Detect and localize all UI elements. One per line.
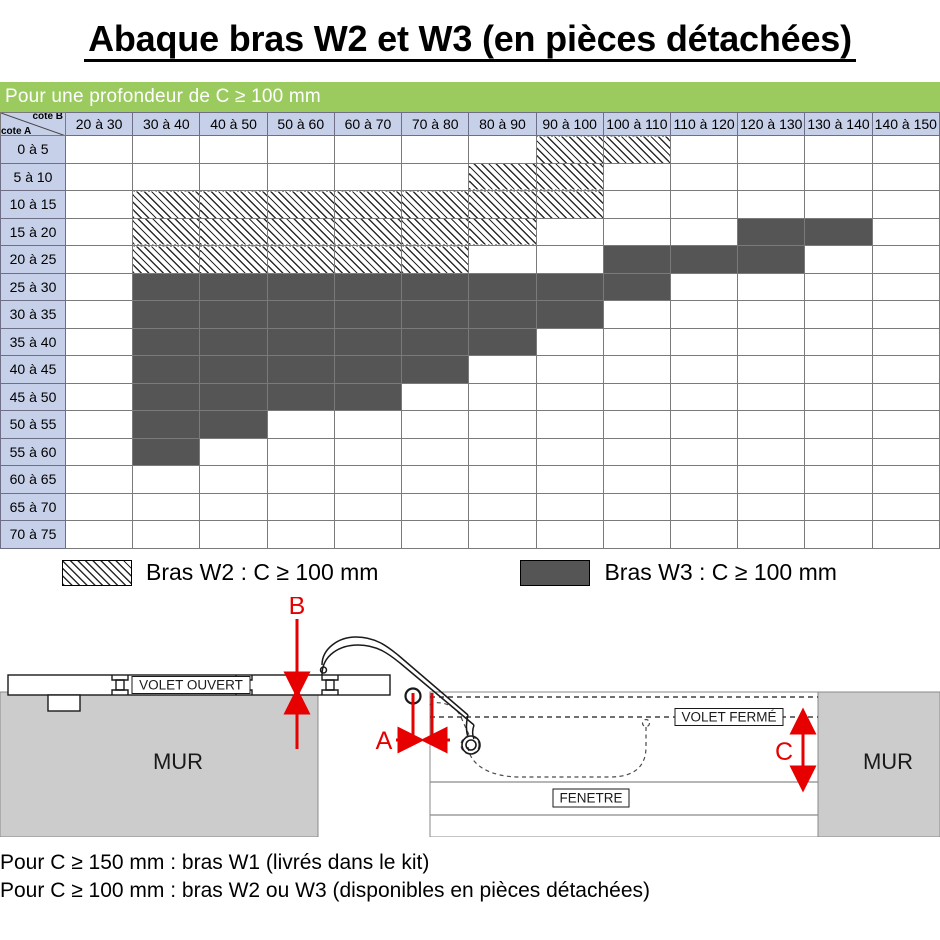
cell-r2-c2[interactable] (200, 191, 267, 219)
cell-r13-c3[interactable] (267, 493, 334, 521)
cell-r12-c12[interactable] (872, 466, 939, 494)
cell-r12-c7[interactable] (536, 466, 603, 494)
table-row: 5 à 10 (1, 163, 940, 191)
legend-label-w3: Bras W3 : C ≥ 100 mm (604, 559, 836, 586)
cell-r6-c6[interactable] (469, 301, 536, 329)
cell-r14-c2[interactable] (200, 521, 267, 549)
cell-r1-c12[interactable] (872, 163, 939, 191)
cell-r0-c9[interactable] (670, 136, 737, 164)
cell-r14-c6[interactable] (469, 521, 536, 549)
row-header-4: 20 à 25 (1, 246, 66, 274)
cell-r14-c9[interactable] (670, 521, 737, 549)
cell-r5-c5[interactable] (402, 273, 469, 301)
cell-r3-c8[interactable] (603, 218, 670, 246)
cell-r0-c4[interactable] (334, 136, 401, 164)
cell-r4-c7[interactable] (536, 246, 603, 274)
cell-r13-c5[interactable] (402, 493, 469, 521)
cell-r9-c0[interactable] (66, 383, 133, 411)
cell-r3-c9[interactable] (670, 218, 737, 246)
cell-r0-c2[interactable] (200, 136, 267, 164)
cell-r5-c12[interactable] (872, 273, 939, 301)
cell-r9-c2[interactable] (200, 383, 267, 411)
cell-r3-c10[interactable] (738, 218, 805, 246)
cell-r1-c4[interactable] (334, 163, 401, 191)
legend-item-w2: Bras W2 : C ≥ 100 mm (62, 559, 378, 586)
cell-r9-c1[interactable] (133, 383, 200, 411)
cell-r1-c2[interactable] (200, 163, 267, 191)
fenetre-label-box: FENETRE (553, 789, 629, 807)
page-title: Abaque bras W2 et W3 (en pièces détachée… (84, 20, 856, 63)
cell-r3-c7[interactable] (536, 218, 603, 246)
cell-r9-c5[interactable] (402, 383, 469, 411)
cell-r12-c11[interactable] (805, 466, 872, 494)
cell-r0-c0[interactable] (66, 136, 133, 164)
corner-row-label: cote A (1, 126, 31, 136)
cell-r9-c7[interactable] (536, 383, 603, 411)
col-header-8: 100 à 110 (603, 113, 670, 136)
cell-r2-c8[interactable] (603, 191, 670, 219)
cell-r3-c3[interactable] (267, 218, 334, 246)
col-header-9: 110 à 120 (670, 113, 737, 136)
legend-item-w3: Bras W3 : C ≥ 100 mm (520, 559, 836, 586)
cell-r2-c7[interactable] (536, 191, 603, 219)
cell-r7-c2[interactable] (200, 328, 267, 356)
cell-r8-c5[interactable] (402, 356, 469, 384)
cell-r6-c11[interactable] (805, 301, 872, 329)
cell-r10-c12[interactable] (872, 411, 939, 439)
cell-r12-c9[interactable] (670, 466, 737, 494)
cell-r14-c11[interactable] (805, 521, 872, 549)
cell-r6-c5[interactable] (402, 301, 469, 329)
cell-r13-c10[interactable] (738, 493, 805, 521)
cell-r9-c11[interactable] (805, 383, 872, 411)
table-row: 55 à 60 (1, 438, 940, 466)
cell-r6-c7[interactable] (536, 301, 603, 329)
table-row: 10 à 15 (1, 191, 940, 219)
cell-r7-c1[interactable] (133, 328, 200, 356)
cell-r14-c12[interactable] (872, 521, 939, 549)
cell-r0-c11[interactable] (805, 136, 872, 164)
cell-r0-c1[interactable] (133, 136, 200, 164)
table-row: 15 à 20 (1, 218, 940, 246)
cell-r8-c12[interactable] (872, 356, 939, 384)
row-header-1: 5 à 10 (1, 163, 66, 191)
cell-r4-c4[interactable] (334, 246, 401, 274)
cell-r8-c1[interactable] (133, 356, 200, 384)
col-header-3: 50 à 60 (267, 113, 334, 136)
shutter-arm-diagram: MUR MUR VOLET OUVERT VOLET FERMÉ FENETRE (0, 597, 940, 837)
cell-r3-c2[interactable] (200, 218, 267, 246)
cell-r0-c5[interactable] (402, 136, 469, 164)
cell-r10-c4[interactable] (334, 411, 401, 439)
cell-r8-c2[interactable] (200, 356, 267, 384)
cell-r5-c3[interactable] (267, 273, 334, 301)
cell-r10-c6[interactable] (469, 411, 536, 439)
col-header-10: 120 à 130 (738, 113, 805, 136)
row-header-2: 10 à 15 (1, 191, 66, 219)
cell-r6-c9[interactable] (670, 301, 737, 329)
table-row: 0 à 5 (1, 136, 940, 164)
cell-r13-c0[interactable] (66, 493, 133, 521)
cell-r14-c7[interactable] (536, 521, 603, 549)
cell-r8-c0[interactable] (66, 356, 133, 384)
cell-r4-c2[interactable] (200, 246, 267, 274)
volet-ferme-label: VOLET FERMÉ (681, 709, 776, 724)
cell-r6-c3[interactable] (267, 301, 334, 329)
footnote-w2-w3: Pour C ≥ 100 mm : bras W2 ou W3 (disponi… (0, 877, 940, 905)
row-header-5: 25 à 30 (1, 273, 66, 301)
cell-r13-c9[interactable] (670, 493, 737, 521)
banner-label: Pour une profondeur de C ≥ 100 mm (5, 86, 321, 108)
cell-r0-c3[interactable] (267, 136, 334, 164)
cell-r9-c10[interactable] (738, 383, 805, 411)
table-row: 20 à 25 (1, 246, 940, 274)
cell-r5-c8[interactable] (603, 273, 670, 301)
cell-r0-c12[interactable] (872, 136, 939, 164)
cell-r10-c9[interactable] (670, 411, 737, 439)
cell-r3-c6[interactable] (469, 218, 536, 246)
cell-r4-c11[interactable] (805, 246, 872, 274)
cell-r14-c1[interactable] (133, 521, 200, 549)
cell-r7-c3[interactable] (267, 328, 334, 356)
row-header-10: 50 à 55 (1, 411, 66, 439)
cell-r14-c8[interactable] (603, 521, 670, 549)
col-header-11: 130 à 140 (805, 113, 872, 136)
cell-r10-c2[interactable] (200, 411, 267, 439)
cell-r4-c12[interactable] (872, 246, 939, 274)
legend-swatch-w2-icon (62, 560, 132, 586)
footnote-w1: Pour C ≥ 150 mm : bras W1 (livrés dans l… (0, 849, 940, 877)
cell-r11-c9[interactable] (670, 438, 737, 466)
cell-r9-c8[interactable] (603, 383, 670, 411)
cell-r10-c5[interactable] (402, 411, 469, 439)
volet-ouvert-label: VOLET OUVERT (139, 677, 243, 692)
dimension-a-label: A (376, 727, 393, 755)
cell-r0-c8[interactable] (603, 136, 670, 164)
cell-r13-c2[interactable] (200, 493, 267, 521)
cell-r10-c11[interactable] (805, 411, 872, 439)
table-row: 25 à 30 (1, 273, 940, 301)
cell-r7-c5[interactable] (402, 328, 469, 356)
dimension-b-label: B (289, 597, 306, 620)
cell-r2-c4[interactable] (334, 191, 401, 219)
row-header-6: 30 à 35 (1, 301, 66, 329)
cell-r1-c1[interactable] (133, 163, 200, 191)
cell-r3-c0[interactable] (66, 218, 133, 246)
cell-r5-c2[interactable] (200, 273, 267, 301)
cell-r6-c10[interactable] (738, 301, 805, 329)
mur-right-label: MUR (863, 749, 913, 774)
cell-r1-c8[interactable] (603, 163, 670, 191)
row-header-8: 40 à 45 (1, 356, 66, 384)
col-header-1: 30 à 40 (133, 113, 200, 136)
cell-r11-c8[interactable] (603, 438, 670, 466)
cell-r4-c5[interactable] (402, 246, 469, 274)
cell-r2-c12[interactable] (872, 191, 939, 219)
cell-r9-c9[interactable] (670, 383, 737, 411)
cell-r12-c4[interactable] (334, 466, 401, 494)
cell-r8-c4[interactable] (334, 356, 401, 384)
row-header-12: 60 à 65 (1, 466, 66, 494)
cell-r7-c7[interactable] (536, 328, 603, 356)
cell-r12-c3[interactable] (267, 466, 334, 494)
cell-r11-c11[interactable] (805, 438, 872, 466)
cell-r6-c4[interactable] (334, 301, 401, 329)
abaque-table: cote B cote A 20 à 3030 à 4040 à 5050 à … (0, 112, 940, 549)
table-row: 50 à 55 (1, 411, 940, 439)
cell-r8-c7[interactable] (536, 356, 603, 384)
cell-r5-c1[interactable] (133, 273, 200, 301)
cell-r2-c3[interactable] (267, 191, 334, 219)
cell-r4-c6[interactable] (469, 246, 536, 274)
cell-r10-c8[interactable] (603, 411, 670, 439)
cell-r11-c1[interactable] (133, 438, 200, 466)
cell-r3-c1[interactable] (133, 218, 200, 246)
cell-r5-c4[interactable] (334, 273, 401, 301)
cell-r7-c6[interactable] (469, 328, 536, 356)
cell-r13-c6[interactable] (469, 493, 536, 521)
legend-label-w2: Bras W2 : C ≥ 100 mm (146, 559, 378, 586)
cell-r13-c4[interactable] (334, 493, 401, 521)
cell-r14-c5[interactable] (402, 521, 469, 549)
row-header-3: 15 à 20 (1, 218, 66, 246)
cell-r14-c10[interactable] (738, 521, 805, 549)
footnotes: Pour C ≥ 150 mm : bras W1 (livrés dans l… (0, 837, 940, 906)
cell-r5-c11[interactable] (805, 273, 872, 301)
volet-ferme-label-box: VOLET FERMÉ (675, 708, 783, 725)
table-row: 35 à 40 (1, 328, 940, 356)
depth-condition-banner: Pour une profondeur de C ≥ 100 mm (0, 82, 940, 112)
table-header-row: cote B cote A 20 à 3030 à 4040 à 5050 à … (1, 113, 940, 136)
cell-r6-c8[interactable] (603, 301, 670, 329)
cell-r1-c7[interactable] (536, 163, 603, 191)
cell-r6-c0[interactable] (66, 301, 133, 329)
legend-swatch-w3-icon (520, 560, 590, 586)
cell-r1-c3[interactable] (267, 163, 334, 191)
cell-r10-c7[interactable] (536, 411, 603, 439)
cell-r9-c3[interactable] (267, 383, 334, 411)
cell-r14-c3[interactable] (267, 521, 334, 549)
cell-r10-c10[interactable] (738, 411, 805, 439)
cell-r13-c12[interactable] (872, 493, 939, 521)
cell-r10-c1[interactable] (133, 411, 200, 439)
cell-r4-c1[interactable] (133, 246, 200, 274)
cell-r2-c5[interactable] (402, 191, 469, 219)
table-row: 45 à 50 (1, 383, 940, 411)
title-bar: Abaque bras W2 et W3 (en pièces détachée… (0, 0, 940, 82)
cell-r2-c11[interactable] (805, 191, 872, 219)
table-row: 70 à 75 (1, 521, 940, 549)
cell-r3-c11[interactable] (805, 218, 872, 246)
cell-r5-c0[interactable] (66, 273, 133, 301)
table-row: 65 à 70 (1, 493, 940, 521)
cell-r6-c2[interactable] (200, 301, 267, 329)
cell-r13-c1[interactable] (133, 493, 200, 521)
cell-r12-c2[interactable] (200, 466, 267, 494)
cell-r13-c8[interactable] (603, 493, 670, 521)
table-row: 40 à 45 (1, 356, 940, 384)
cell-r8-c11[interactable] (805, 356, 872, 384)
cell-r10-c0[interactable] (66, 411, 133, 439)
cell-r9-c4[interactable] (334, 383, 401, 411)
cell-r11-c0[interactable] (66, 438, 133, 466)
row-header-9: 45 à 50 (1, 383, 66, 411)
cell-r1-c6[interactable] (469, 163, 536, 191)
cell-r5-c9[interactable] (670, 273, 737, 301)
cell-r2-c10[interactable] (738, 191, 805, 219)
cell-r9-c12[interactable] (872, 383, 939, 411)
cell-r12-c5[interactable] (402, 466, 469, 494)
cell-r5-c7[interactable] (536, 273, 603, 301)
cell-r7-c10[interactable] (738, 328, 805, 356)
table-row: 30 à 35 (1, 301, 940, 329)
cell-r7-c12[interactable] (872, 328, 939, 356)
cell-r7-c11[interactable] (805, 328, 872, 356)
cell-r14-c4[interactable] (334, 521, 401, 549)
cell-r3-c5[interactable] (402, 218, 469, 246)
corner-col-label: cote B (32, 113, 63, 123)
volet-ouvert-label-box: VOLET OUVERT (132, 676, 250, 693)
row-header-7: 35 à 40 (1, 328, 66, 356)
cell-r12-c6[interactable] (469, 466, 536, 494)
cell-r5-c10[interactable] (738, 273, 805, 301)
cell-r8-c10[interactable] (738, 356, 805, 384)
cell-r2-c6[interactable] (469, 191, 536, 219)
diagram-svg: MUR MUR VOLET OUVERT VOLET FERMÉ FENETRE (0, 597, 940, 837)
cell-r12-c1[interactable] (133, 466, 200, 494)
cell-r6-c1[interactable] (133, 301, 200, 329)
cell-r8-c9[interactable] (670, 356, 737, 384)
cell-r12-c0[interactable] (66, 466, 133, 494)
cell-r13-c7[interactable] (536, 493, 603, 521)
cell-r1-c11[interactable] (805, 163, 872, 191)
legend: Bras W2 : C ≥ 100 mm Bras W3 : C ≥ 100 m… (0, 549, 940, 597)
col-header-12: 140 à 150 (872, 113, 939, 136)
cell-r11-c6[interactable] (469, 438, 536, 466)
col-header-2: 40 à 50 (200, 113, 267, 136)
row-header-14: 70 à 75 (1, 521, 66, 549)
cell-r4-c3[interactable] (267, 246, 334, 274)
cell-r7-c0[interactable] (66, 328, 133, 356)
corner-axis-header: cote B cote A (1, 113, 66, 136)
row-header-11: 55 à 60 (1, 438, 66, 466)
col-header-0: 20 à 30 (66, 113, 133, 136)
col-header-6: 80 à 90 (469, 113, 536, 136)
cell-r4-c10[interactable] (738, 246, 805, 274)
cell-r11-c5[interactable] (402, 438, 469, 466)
cell-r2-c0[interactable] (66, 191, 133, 219)
row-header-13: 65 à 70 (1, 493, 66, 521)
cell-r12-c10[interactable] (738, 466, 805, 494)
cell-r11-c7[interactable] (536, 438, 603, 466)
cell-r8-c3[interactable] (267, 356, 334, 384)
cell-r0-c10[interactable] (738, 136, 805, 164)
cell-r2-c1[interactable] (133, 191, 200, 219)
cell-r0-c6[interactable] (469, 136, 536, 164)
cell-r4-c0[interactable] (66, 246, 133, 274)
cell-r1-c0[interactable] (66, 163, 133, 191)
cell-r10-c3[interactable] (267, 411, 334, 439)
mur-left-label: MUR (153, 749, 203, 774)
cell-r7-c4[interactable] (334, 328, 401, 356)
table-row: 60 à 65 (1, 466, 940, 494)
cell-r0-c7[interactable] (536, 136, 603, 164)
fenetre-label: FENETRE (559, 790, 622, 805)
cell-r7-c9[interactable] (670, 328, 737, 356)
cell-r11-c4[interactable] (334, 438, 401, 466)
dimension-c-label: C (775, 738, 793, 766)
cell-r4-c8[interactable] (603, 246, 670, 274)
cell-r5-c6[interactable] (469, 273, 536, 301)
col-header-4: 60 à 70 (334, 113, 401, 136)
cell-r11-c2[interactable] (200, 438, 267, 466)
cell-r8-c6[interactable] (469, 356, 536, 384)
cell-r7-c8[interactable] (603, 328, 670, 356)
col-header-5: 70 à 80 (402, 113, 469, 136)
col-header-7: 90 à 100 (536, 113, 603, 136)
cell-r11-c10[interactable] (738, 438, 805, 466)
cell-r13-c11[interactable] (805, 493, 872, 521)
cell-r11-c12[interactable] (872, 438, 939, 466)
cell-r4-c9[interactable] (670, 246, 737, 274)
cell-r3-c4[interactable] (334, 218, 401, 246)
cell-r1-c9[interactable] (670, 163, 737, 191)
cell-r2-c9[interactable] (670, 191, 737, 219)
cell-r12-c8[interactable] (603, 466, 670, 494)
cell-r9-c6[interactable] (469, 383, 536, 411)
row-header-0: 0 à 5 (1, 136, 66, 164)
cell-r8-c8[interactable] (603, 356, 670, 384)
cell-r14-c0[interactable] (66, 521, 133, 549)
cell-r1-c10[interactable] (738, 163, 805, 191)
cell-r6-c12[interactable] (872, 301, 939, 329)
cell-r11-c3[interactable] (267, 438, 334, 466)
cell-r3-c12[interactable] (872, 218, 939, 246)
cell-r1-c5[interactable] (402, 163, 469, 191)
